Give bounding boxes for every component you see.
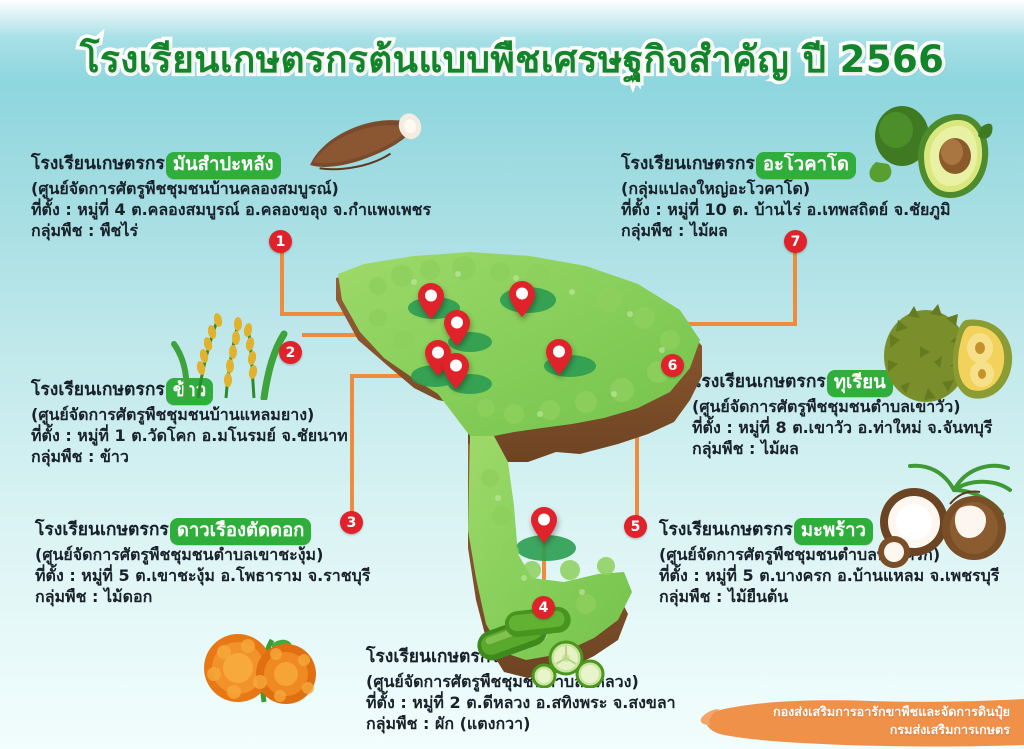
- marker-badge-3[interactable]: 3: [340, 511, 363, 534]
- entry-4-group: กลุ่มพืช : ผัก (แตงกวา): [366, 714, 676, 735]
- coconut-image: [868, 460, 1018, 570]
- marker-badge-2[interactable]: 2: [279, 341, 302, 364]
- entry-4-location: ที่ตั้ง : หมู่ที่ 2 ต.ดีหลวง อ.สทิงพระ จ…: [366, 693, 676, 714]
- entry-1-center: (ศูนย์จัดการศัตรูพืชชุมชนบ้านคลองสมบูรณ์…: [31, 179, 431, 200]
- map-pin-6[interactable]: [546, 339, 572, 375]
- entry-2-group: กลุ่มพืช : ข้าว: [31, 447, 348, 468]
- entry-1-group: กลุ่มพืช : พืชไร่: [31, 221, 431, 242]
- cassava-image: [300, 105, 430, 180]
- map-pin-7[interactable]: [509, 281, 535, 317]
- entry-7-crop-chip: อะโวคาโด: [756, 152, 856, 179]
- map-pin-4[interactable]: [531, 507, 557, 543]
- marker-badge-1[interactable]: 1: [269, 230, 292, 253]
- map-pin-3b[interactable]: [443, 353, 469, 389]
- footer-text: กองส่งเสริมการอารักขาพืชและจัดการดินปุ๋ย…: [710, 703, 1010, 740]
- entry-5-crop-chip: มะพร้าว: [794, 518, 873, 545]
- entry-7-prefix: โรงเรียนเกษตรกร: [621, 154, 755, 174]
- entry-1-crop-chip: มันสำปะหลัง: [166, 152, 281, 179]
- entry-1-prefix: โรงเรียนเกษตรกร: [31, 154, 165, 174]
- entry-6-location: ที่ตั้ง : หมู่ที่ 8 ต.เขาวัว อ.ท่าใหม่ จ…: [692, 418, 992, 439]
- connector-line-1-vertical: [280, 252, 284, 314]
- marker-badge-5[interactable]: 5: [624, 515, 647, 538]
- entry-1-location: ที่ตั้ง : หมู่ที่ 4 ต.คลองสมบูรณ์ อ.คลอง…: [31, 200, 431, 221]
- page-title-container: โรงเรียนเกษตรกรต้นแบบพืชเศรษฐกิจสำคัญ ปี…: [0, 30, 1024, 89]
- durian-image: [880, 300, 1020, 412]
- entry-2-location: ที่ตั้ง : หมู่ที่ 1 ต.วัดโคก อ.มโนรมย์ จ…: [31, 426, 348, 447]
- entry-3-crop-chip: ดาวเรืองตัดดอก: [170, 518, 312, 545]
- entry-2-prefix: โรงเรียนเกษตรกร: [31, 380, 165, 400]
- entry-6-group: กลุ่มพืช : ไม้ผล: [692, 439, 992, 460]
- marker-badge-7[interactable]: 7: [784, 230, 807, 253]
- infographic-canvas: โรงเรียนเกษตรกรต้นแบบพืชเศรษฐกิจสำคัญ ปี…: [0, 0, 1024, 749]
- footer-line-1: กองส่งเสริมการอารักขาพืชและจัดการดินปุ๋ย: [710, 703, 1010, 721]
- entry-2-center: (ศูนย์จัดการศัตรูพืชชุมชนบ้านแหลมยาง): [31, 405, 348, 426]
- marker-badge-4[interactable]: 4: [532, 596, 555, 619]
- connector-line-7-vertical: [793, 252, 797, 326]
- rice-image: [168, 310, 288, 400]
- avocado-image: [862, 100, 994, 205]
- map-pin-1[interactable]: [418, 283, 444, 319]
- footer-banner: กองส่งเสริมการอารักขาพืชและจัดการดินปุ๋ย…: [694, 695, 1024, 749]
- marker-badge-6[interactable]: 6: [661, 354, 684, 377]
- entry-3-prefix: โรงเรียนเกษตรกร: [35, 520, 169, 540]
- page-title: โรงเรียนเกษตรกรต้นแบบพืชเศรษฐกิจสำคัญ ปี…: [80, 30, 945, 89]
- marigold-image: [186, 596, 336, 706]
- footer-line-2: กรมส่งเสริมการเกษตร: [710, 721, 1010, 739]
